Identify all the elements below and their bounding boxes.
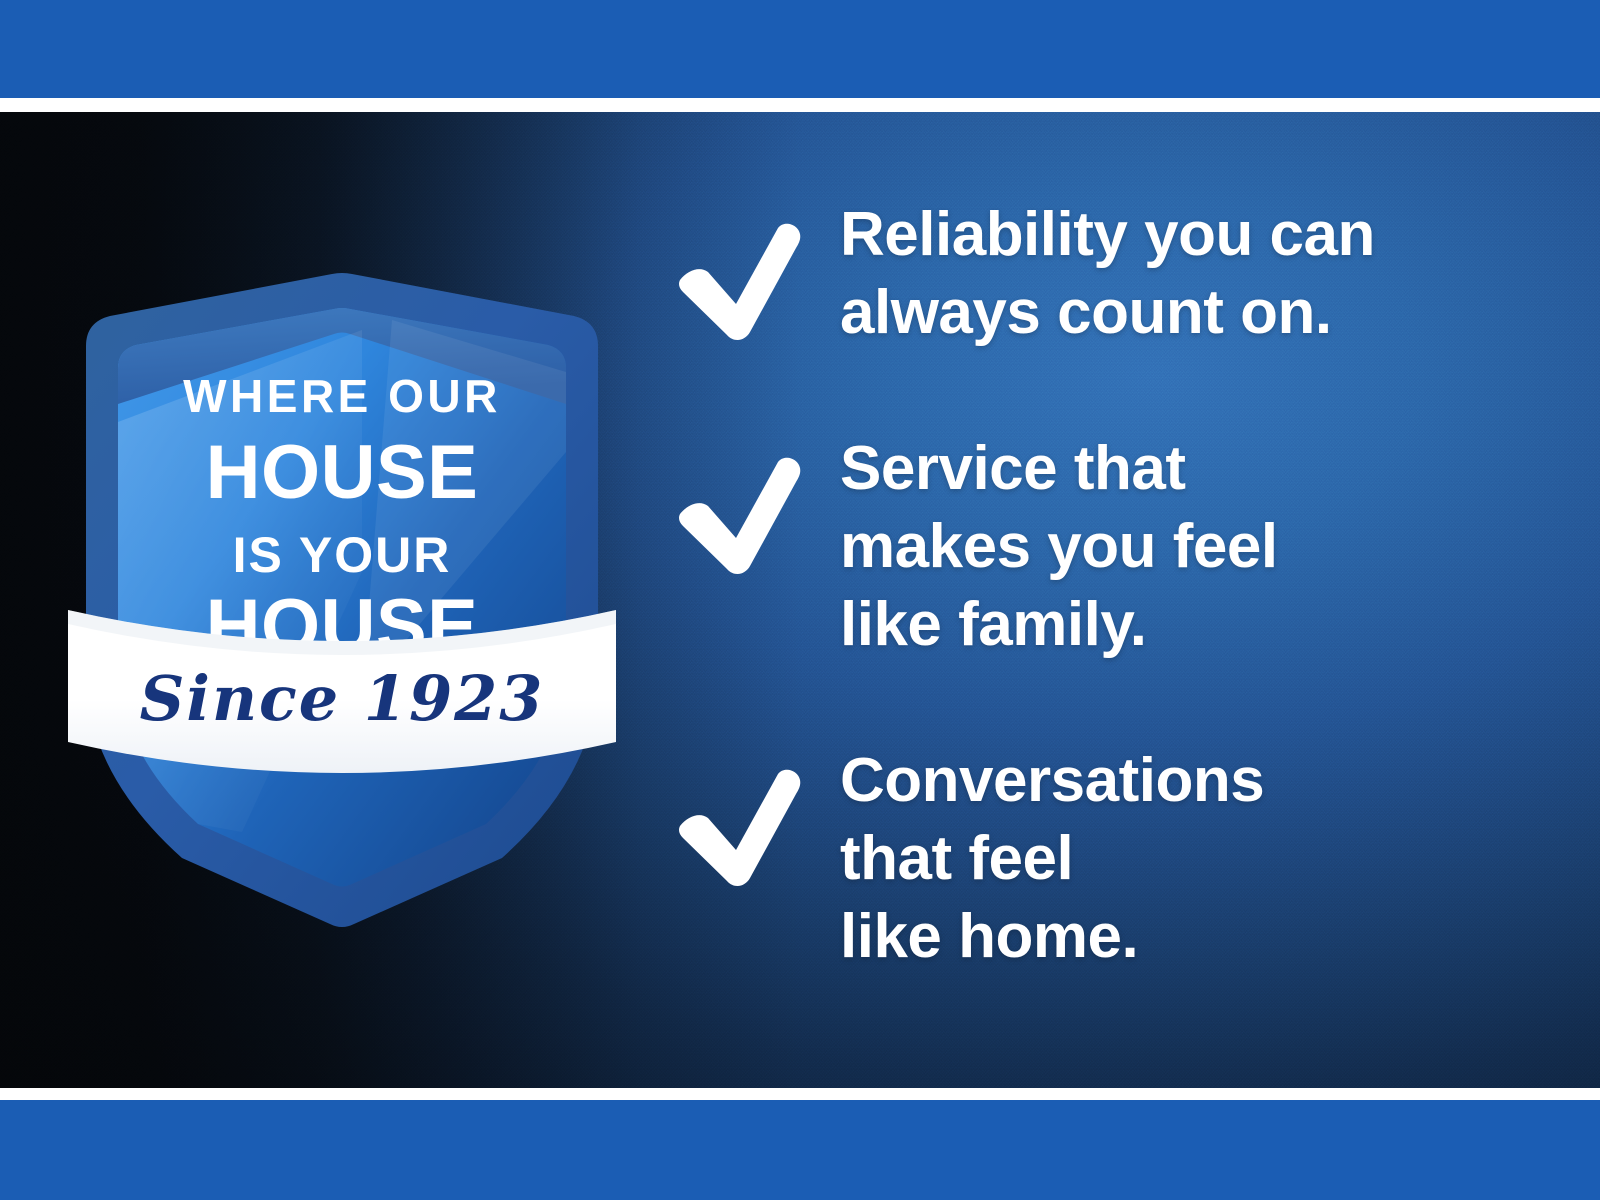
benefit-text-1: Reliability you can always count on. xyxy=(840,196,1552,352)
benefit-item-3: Conversations that feel like home. xyxy=(672,742,1552,976)
bottom-brand-bar xyxy=(0,1100,1600,1200)
check-icon xyxy=(674,456,804,578)
check-icon xyxy=(674,222,804,344)
benefit-text-3: Conversations that feel like home. xyxy=(840,742,1552,976)
top-brand-bar xyxy=(0,0,1600,98)
promo-graphic: WHERE OUR HOUSE IS YOUR HOUSE Since 1923… xyxy=(0,0,1600,1200)
ribbon-since-text: Since 1923 xyxy=(140,662,545,735)
check-icon xyxy=(674,768,804,890)
benefit-item-1: Reliability you can always count on. xyxy=(672,196,1552,352)
benefit-item-2: Service that makes you feel like family. xyxy=(672,430,1552,664)
benefits-list: Reliability you can always count on. Ser… xyxy=(672,196,1552,976)
badge-line-1: WHERE OUR xyxy=(183,370,501,422)
benefit-text-2: Service that makes you feel like family. xyxy=(840,430,1552,664)
shield-badge: WHERE OUR HOUSE IS YOUR HOUSE Since 1923 xyxy=(62,272,622,932)
badge-line-2: HOUSE xyxy=(206,430,479,515)
badge-line-3: IS YOUR xyxy=(233,527,452,583)
